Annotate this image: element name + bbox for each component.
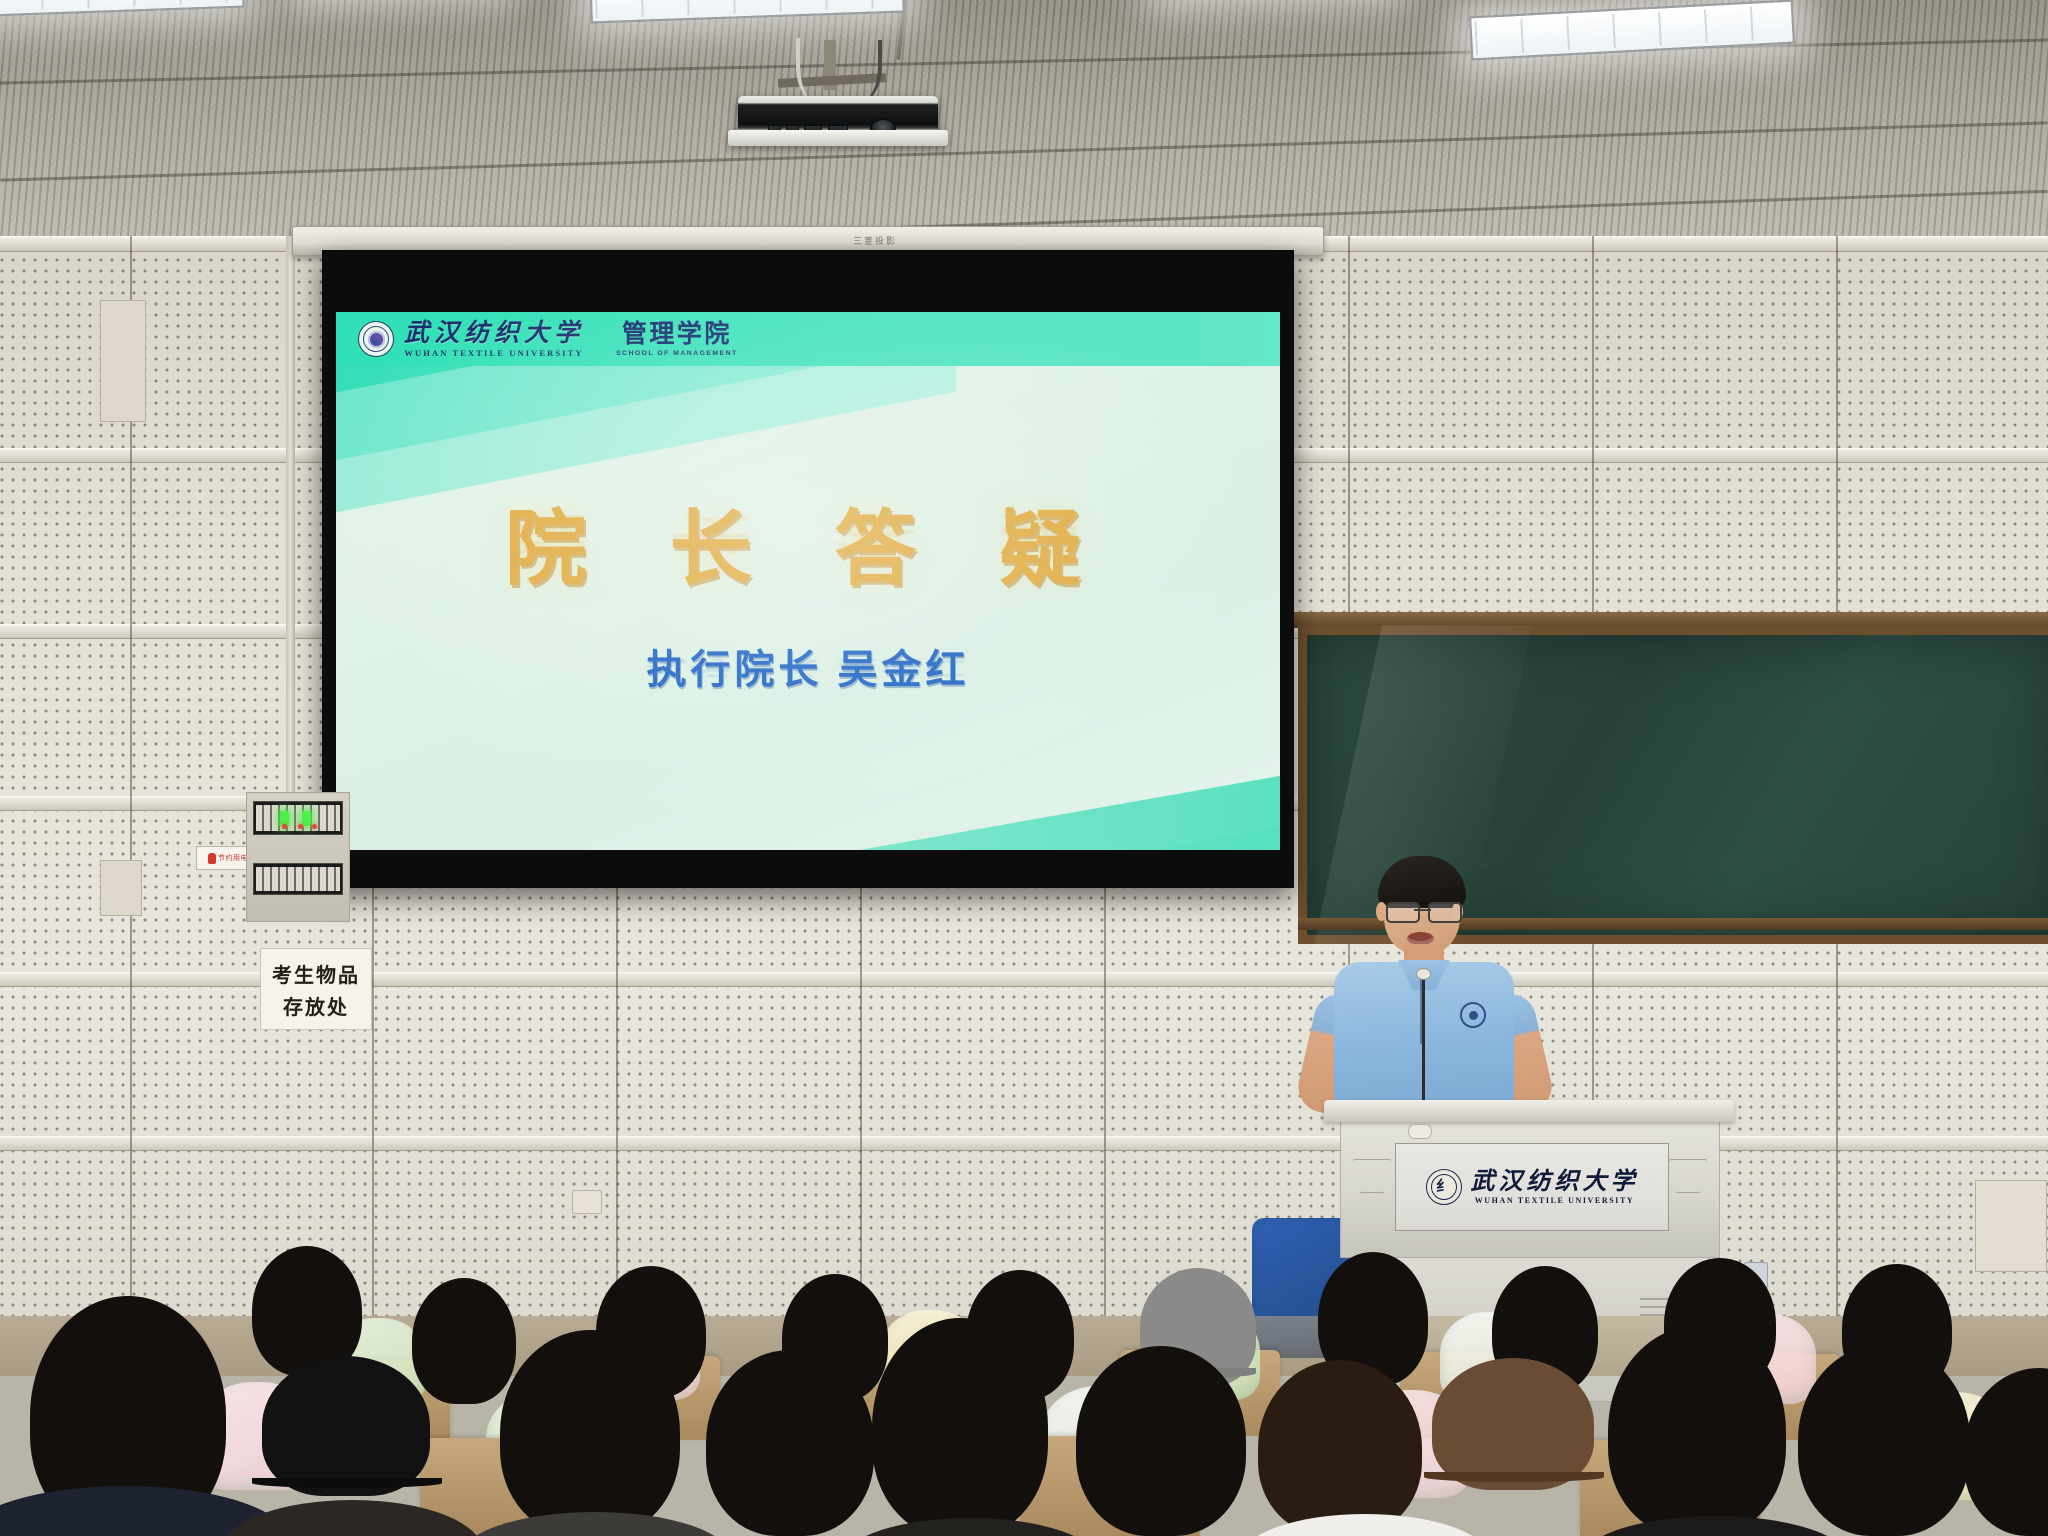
audience-head	[1608, 1326, 1786, 1536]
save-power-text: 节约用电	[218, 853, 248, 863]
university-seal-icon	[358, 321, 394, 357]
presenter-hair	[1378, 856, 1466, 908]
ceiling	[0, 0, 2048, 250]
slide-university-name-cn: 武汉纺织大学	[404, 321, 584, 346]
storage-sign-line2: 存放处	[283, 991, 349, 1020]
wall-access-box	[100, 300, 146, 422]
podium-top-surface	[1324, 1100, 1734, 1122]
cap-brim	[252, 1478, 442, 1488]
power-saving-icon	[208, 853, 216, 864]
slide-school-name-en: SCHOOL OF MANAGEMENT	[616, 350, 738, 357]
podium-graphic-icon	[1669, 1159, 1707, 1193]
storage-sign: 考生物品 存放处	[260, 948, 372, 1030]
presenter-shirt-logo-icon	[1460, 1002, 1486, 1028]
audience-head	[1076, 1346, 1246, 1536]
podium-control-knob[interactable]	[1408, 1124, 1432, 1139]
seal-glyph: 纟	[1436, 1180, 1451, 1195]
slide-title-reflection: 院 长 答 疑	[336, 506, 1280, 568]
audience-head	[872, 1318, 1048, 1536]
audience-head-with-cap	[1432, 1358, 1594, 1490]
audience-head	[500, 1330, 680, 1536]
slide-subtitle-reflection: 执行院长 吴金红	[336, 655, 1280, 684]
audience-head	[412, 1278, 516, 1404]
audience-head	[1964, 1368, 2048, 1536]
presenter-glasses	[1428, 902, 1462, 923]
presenter	[1300, 862, 1550, 1132]
wall-conduit	[286, 236, 295, 796]
slide-school-name-cn: 管理学院	[622, 322, 732, 347]
presenter-glasses	[1386, 902, 1420, 923]
projection-screen: 武汉纺织大学 WUHAN TEXTILE UNIVERSITY 管理学院 SCH…	[322, 250, 1294, 888]
breaker-row	[253, 863, 343, 895]
microphone-head-icon	[1416, 968, 1431, 980]
ceiling-light	[1469, 0, 1795, 60]
microphone-stand	[1422, 974, 1425, 1112]
breaker-row	[253, 801, 343, 835]
audience-head	[1258, 1360, 1422, 1536]
projector-cable	[842, 40, 882, 104]
projector-skirt	[728, 130, 948, 146]
slide: 武汉纺织大学 WUHAN TEXTILE UNIVERSITY 管理学院 SCH…	[336, 312, 1280, 850]
lecture-hall-photo: 三菱投影 武汉纺织大学 WUHAN TEXTILE UNIVERSITY 管理学…	[0, 0, 2048, 1536]
cap-brim	[1424, 1472, 1604, 1482]
breaker-indicator-led	[302, 811, 311, 826]
audience-head	[706, 1350, 874, 1536]
audience-head-with-cap	[262, 1356, 430, 1496]
wall-access-box	[100, 860, 142, 916]
podium-university-cn: 武汉纺织大学	[1471, 1170, 1639, 1194]
podium-graphic-icon	[1353, 1159, 1391, 1193]
audience	[0, 1200, 2048, 1536]
housing-brand-label: 三菱投影	[853, 234, 897, 247]
slide-university-name-en: WUHAN TEXTILE UNIVERSITY	[404, 348, 583, 358]
slide-wave-accent	[610, 760, 1280, 850]
audience-head	[1798, 1344, 1970, 1536]
slide-logo-row: 武汉纺织大学 WUHAN TEXTILE UNIVERSITY 管理学院 SCH…	[358, 316, 738, 362]
storage-sign-line1: 考生物品	[272, 959, 360, 988]
breaker-panel	[246, 792, 350, 922]
audience-shoulder	[1240, 1514, 1490, 1536]
ceiling-light	[589, 0, 904, 23]
ceiling-light	[0, 0, 245, 16]
ceiling-projector	[738, 86, 938, 148]
